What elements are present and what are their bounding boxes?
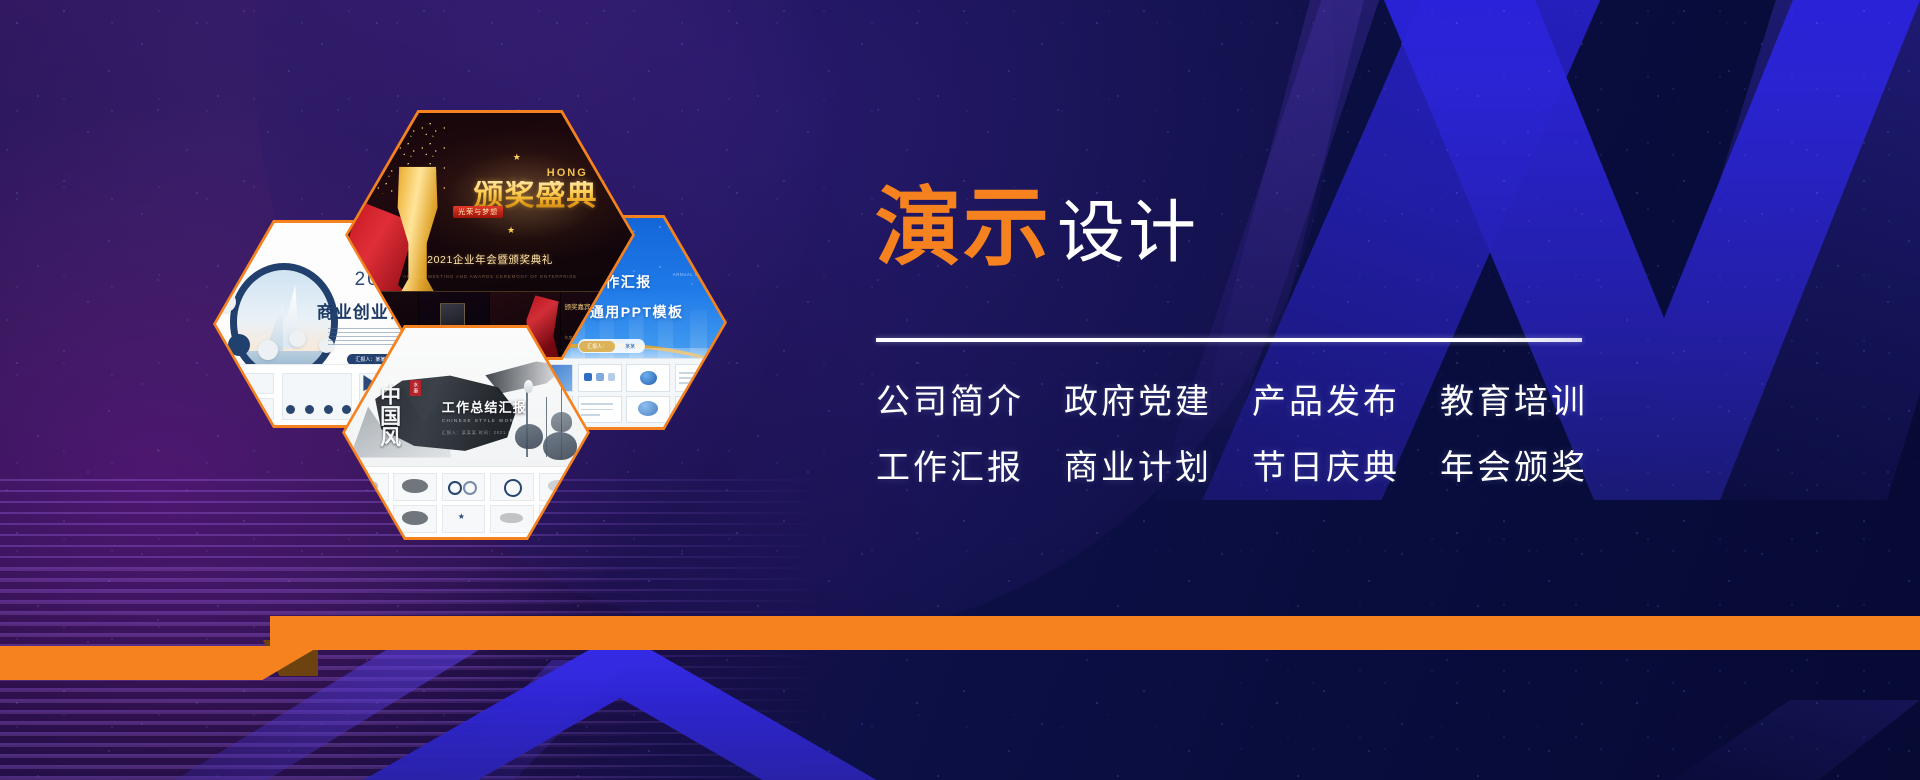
thumbnail-presenter-pills: 汇报人： 某某	[578, 339, 645, 353]
thumbnail-subtitle-award: 2021企业年会暨颁奖典礼	[348, 252, 632, 267]
title-divider	[876, 338, 1582, 342]
category-row-1: 公司简介 政府党建 产品发布 教育培训	[876, 385, 1636, 419]
mini-slide-label: 颁奖嘉宾	[565, 301, 591, 311]
mini-slide	[393, 473, 437, 501]
deco-dot	[221, 255, 238, 272]
thumbnail-title-en-award: HONG	[547, 167, 588, 179]
mini-slide: ★	[442, 505, 486, 533]
category-item[interactable]: 节日庆典	[1252, 451, 1400, 485]
mini-slide	[393, 505, 437, 533]
lotus-pad	[515, 424, 543, 449]
thumbnail-vertical-title-ink: 中国风	[379, 384, 399, 447]
deco-dot	[216, 292, 236, 312]
deco-dot	[289, 330, 306, 347]
category-item[interactable]: 产品发布	[1252, 385, 1400, 419]
lotus-bud	[524, 380, 533, 393]
orange-ribbon-main	[270, 616, 1920, 650]
page-title-highlight: 演示	[875, 185, 1051, 271]
deco-dot	[228, 334, 250, 356]
page-title-rest: 设计	[1057, 199, 1199, 271]
lotus-pad	[551, 412, 572, 431]
mini-slide	[626, 396, 670, 423]
mini-avatar	[286, 405, 295, 414]
thumbnail-line2-annual: 通用PPT模板	[590, 302, 684, 322]
mini-slide	[223, 398, 274, 419]
promo-banner: 2020 商业创业计划书 汇报人：某某某 / 部门	[0, 0, 1920, 780]
lotus-pad	[543, 432, 578, 461]
mini-slide	[626, 364, 670, 391]
mini-slide	[490, 505, 534, 533]
category-item[interactable]: 商业计划	[1064, 451, 1212, 485]
category-row-2: 工作汇报 商业计划 节日庆典 年会颁奖	[876, 451, 1636, 485]
thumbnail-seal-ink: 水墨	[410, 380, 421, 396]
mini-slide	[442, 473, 486, 501]
mini-slide	[223, 373, 274, 394]
template-thumbnail-cluster: 2020 商业创业计划书 汇报人：某某某 / 部门	[195, 110, 665, 480]
star-icon: ★	[604, 162, 612, 173]
mini-avatar	[305, 405, 314, 414]
page-title: 演示 设计	[875, 185, 1199, 271]
thumbnail-title-wrap-award: 颁奖盛典	[450, 147, 620, 245]
category-item[interactable]: 教育培训	[1440, 385, 1588, 419]
category-item[interactable]: 公司简介	[876, 385, 1024, 419]
category-item[interactable]: 政府党建	[1064, 385, 1212, 419]
mini-slide	[490, 473, 534, 501]
mini-avatar	[324, 405, 333, 414]
thumbnail-pill-plain: 某某	[617, 341, 643, 352]
mini-slide	[578, 396, 622, 423]
category-item[interactable]: 工作汇报	[876, 451, 1024, 485]
thumbnail-badge-award: 光荣与梦想	[453, 206, 503, 218]
category-list: 公司简介 政府党建 产品发布 教育培训 工作汇报 商业计划 节日庆典 年会颁奖	[876, 385, 1636, 517]
thumbnail-pill-active: 汇报人：	[579, 341, 615, 352]
mini-slide	[578, 364, 622, 391]
category-item[interactable]: 年会颁奖	[1440, 451, 1588, 485]
